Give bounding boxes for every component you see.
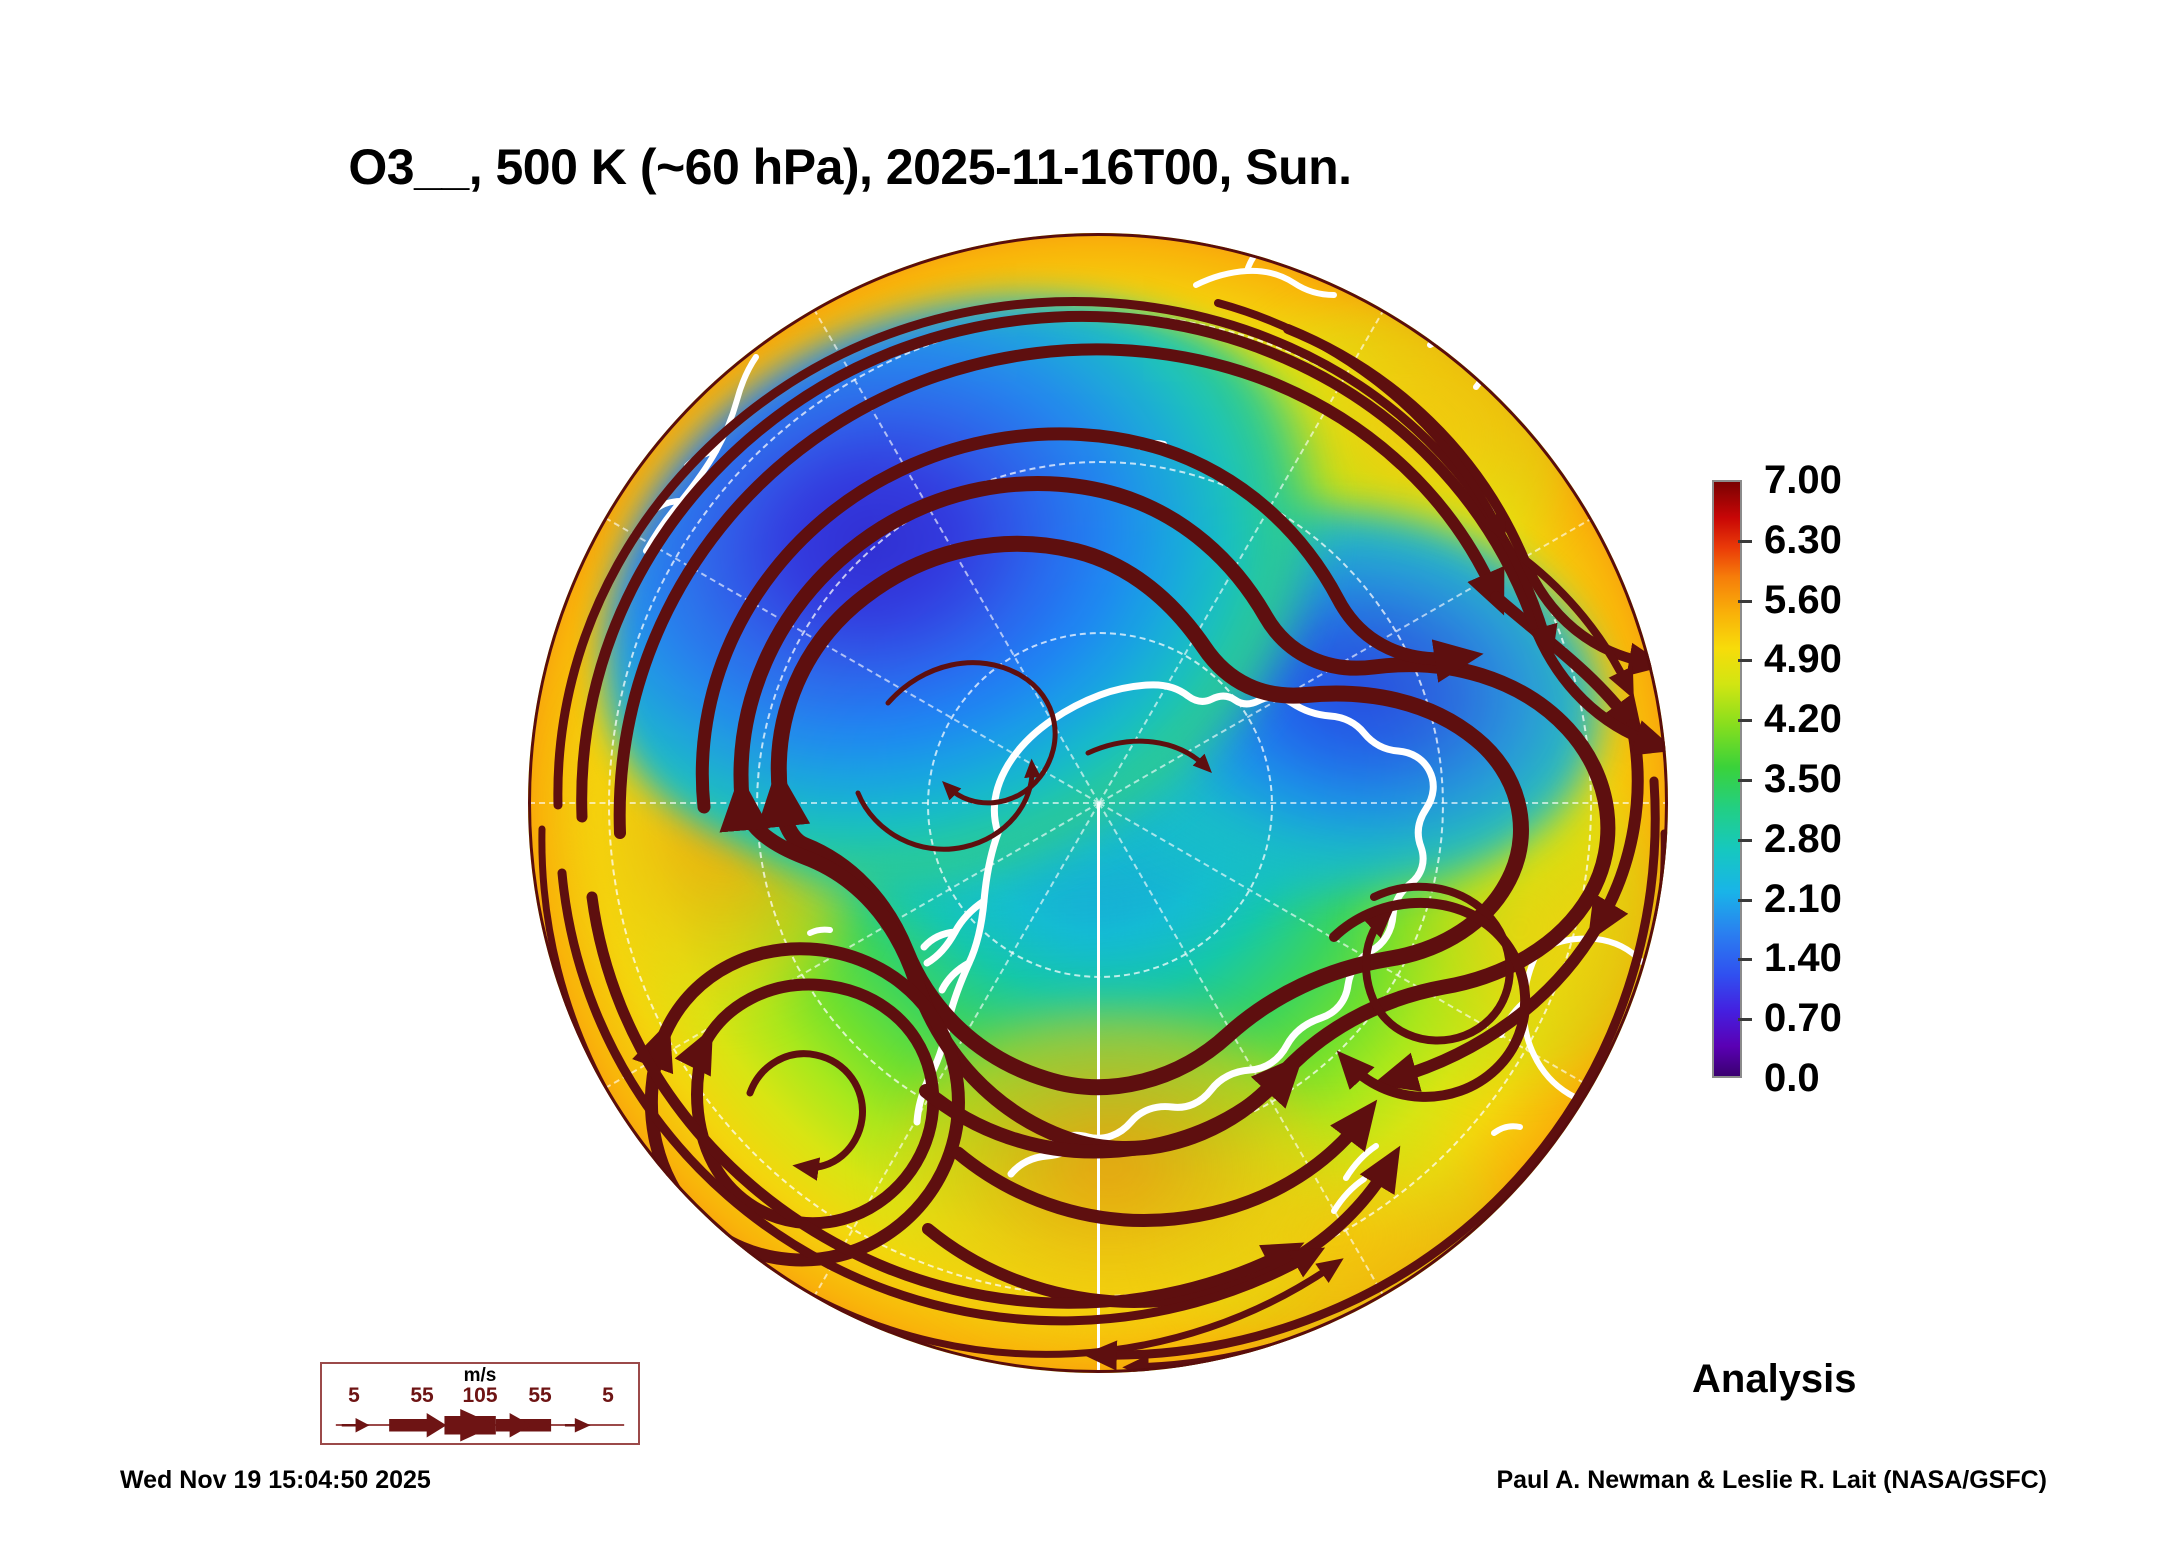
colorbar-tick (1738, 659, 1752, 662)
colorbar-tick-label: 0.0 (1764, 1058, 1820, 1098)
colorbar-tick-label: 2.80 (1764, 819, 1842, 859)
colorbar-tick (1738, 600, 1752, 603)
analysis-label: Analysis (1692, 1357, 1857, 1402)
polar-map-disk (528, 233, 1668, 1373)
polar-map-panel (528, 233, 1668, 1373)
colorbar-tick-label: 6.30 (1764, 520, 1842, 560)
colorbar-tick-label: 7.00 (1764, 460, 1842, 500)
colorbar-tick (1738, 839, 1752, 842)
wind-speed-legend: m/s 555105555 (320, 1362, 640, 1445)
wind-legend-value: 105 (462, 1384, 497, 1408)
colorbar-tick-label: 5.60 (1764, 580, 1842, 620)
colorbar-tick (1738, 958, 1752, 961)
wind-legend-value: 5 (348, 1384, 360, 1408)
colorbar-tick-label: 4.90 (1764, 639, 1842, 679)
colorbar-tick-label: 4.20 (1764, 699, 1842, 739)
colorbar-tick (1738, 540, 1752, 543)
colorbar-tick (1738, 719, 1752, 722)
colorbar-tick-label: 0.70 (1764, 998, 1842, 1038)
colorbar-tick (1738, 1018, 1752, 1021)
colorbar-tick-label: 2.10 (1764, 879, 1842, 919)
map-overlay-vectors (528, 233, 1668, 1373)
wind-arrow-glyphs (322, 1408, 638, 1442)
wind-legend-value: 5 (602, 1384, 614, 1408)
colorbar-tick (1738, 899, 1752, 902)
wind-legend-value: 55 (410, 1384, 433, 1408)
colorbar-tick-label: 3.50 (1764, 759, 1842, 799)
render-timestamp: Wed Nov 19 15:04:50 2025 (120, 1466, 431, 1495)
colorbar-tick-label: 1.40 (1764, 938, 1842, 978)
colorbar: 7.006.305.604.904.203.502.802.101.400.70… (1712, 480, 2132, 1080)
page-title: O3__, 500 K (~60 hPa), 2025-11-16T00, Su… (0, 138, 1700, 196)
credits-line: Paul A. Newman & Leslie R. Lait (NASA/GS… (1496, 1466, 2047, 1495)
wind-legend-value: 55 (528, 1384, 551, 1408)
colorbar-tick (1738, 779, 1752, 782)
